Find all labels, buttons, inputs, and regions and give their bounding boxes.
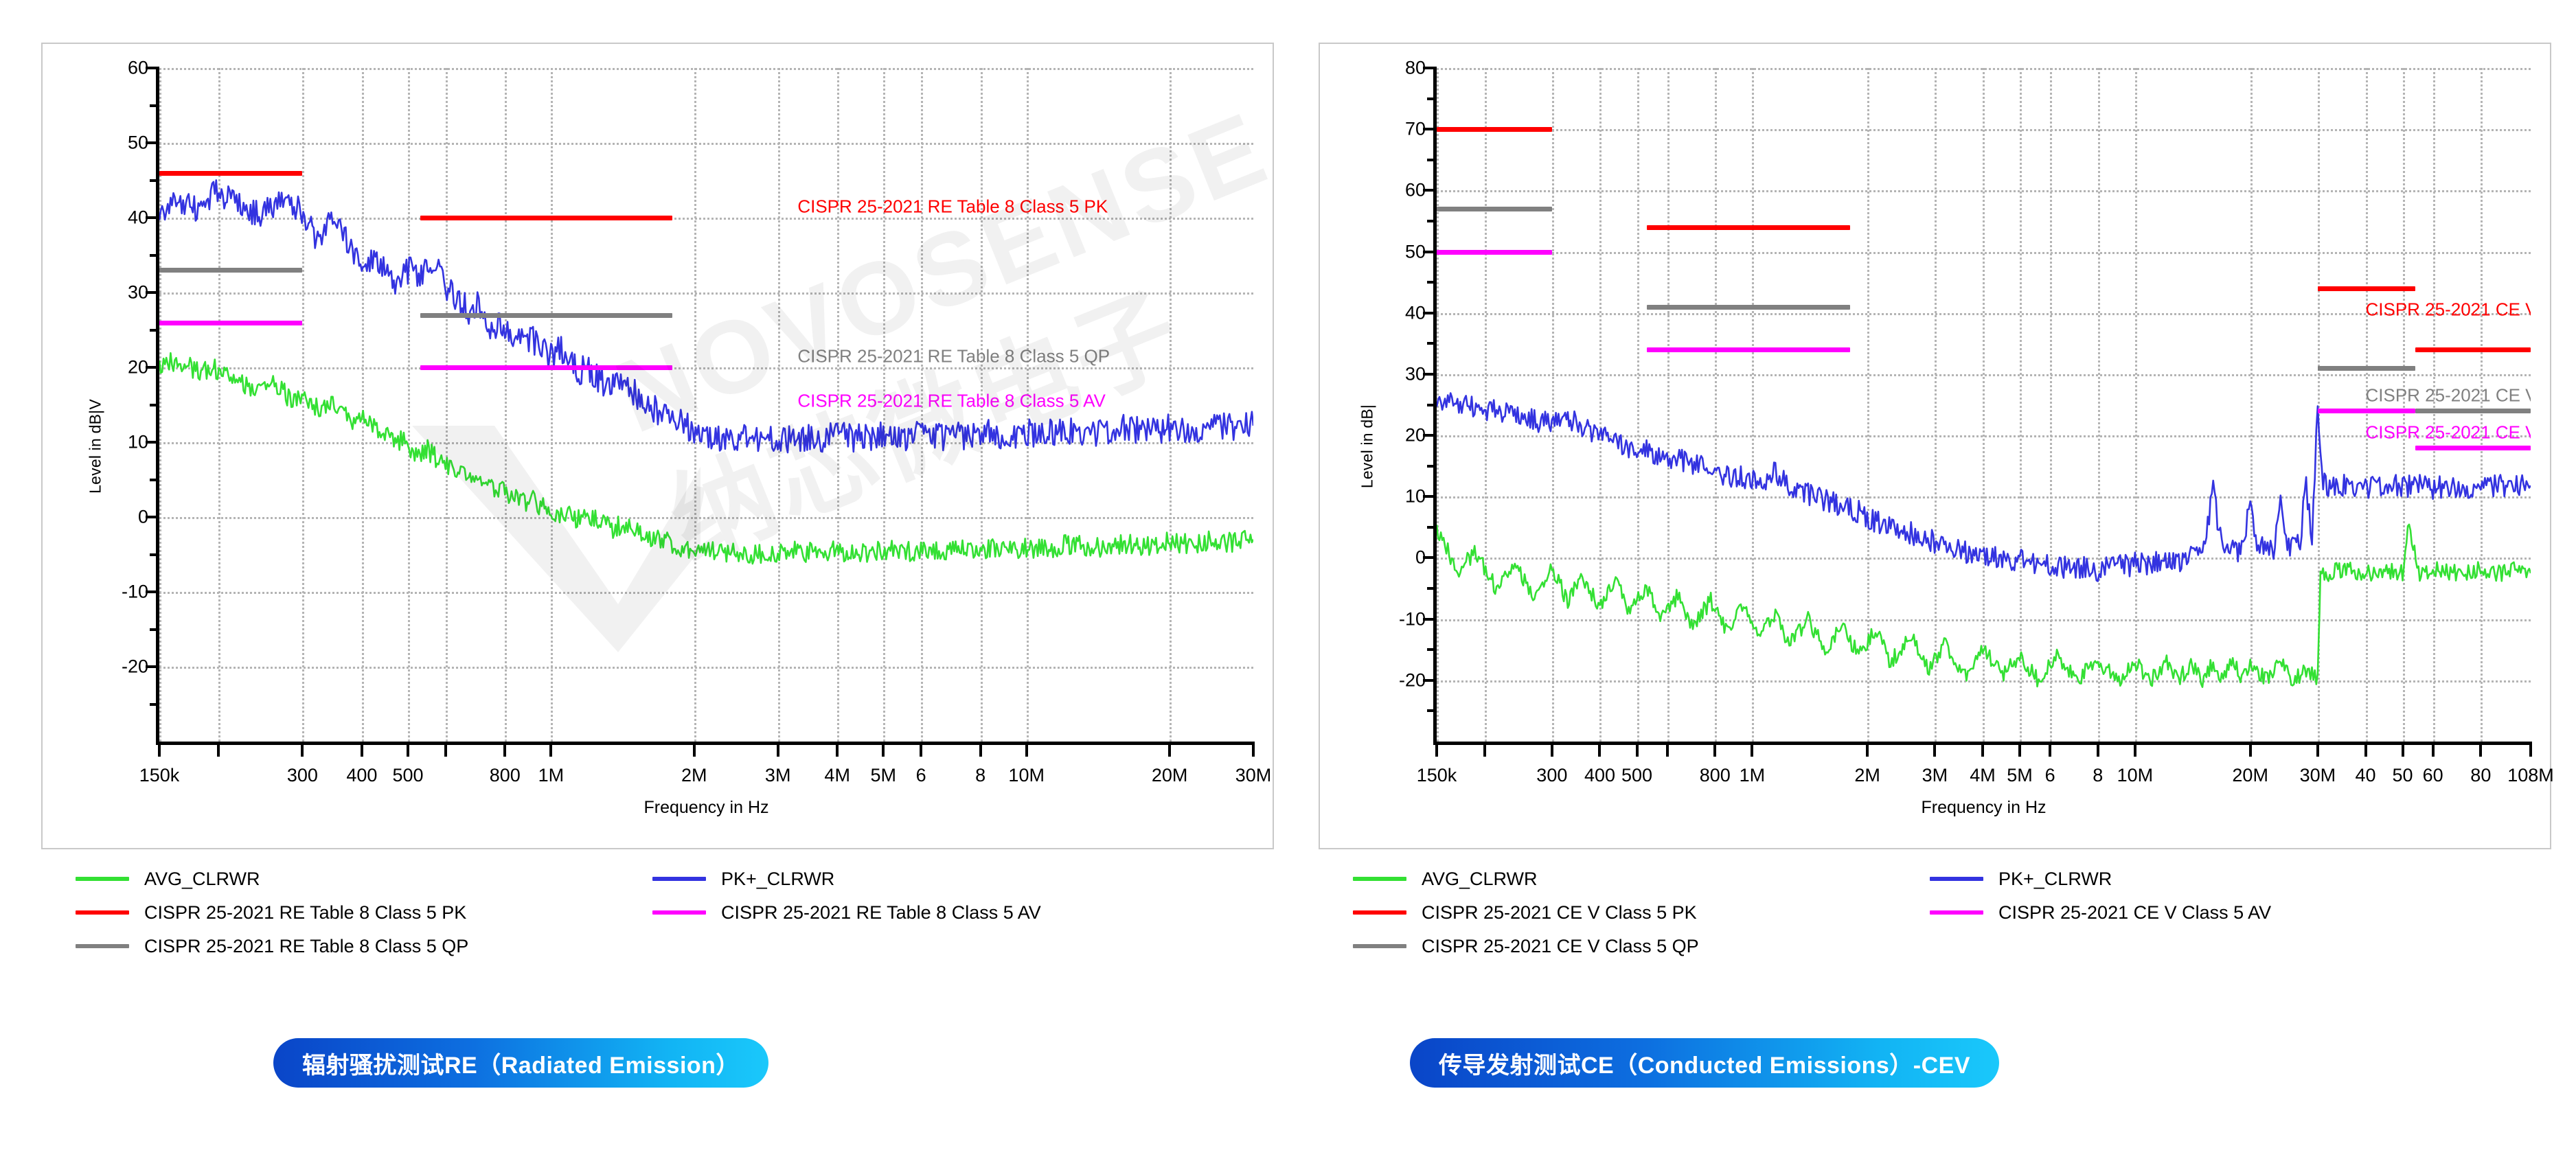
re-x-tick-label: 30M [1235,742,1272,786]
re-x-tick-label: 800 [490,742,521,786]
ce-x-tick-label: 3M [1922,742,1948,786]
re-y-tick-mark [146,441,159,444]
ce-limit-line [1437,127,1552,132]
ce-y-tick-mark [1423,312,1437,314]
re-legend-column-1: AVG_CLRWRCISPR 25-2021 RE Table 8 Class … [76,864,468,965]
ce-legend-label: CISPR 25-2021 CE V Class 5 PK [1422,902,1697,923]
re-y-tick-minor-mark [150,179,159,182]
ce-plot-inner: CISPR 25-2021 CE V Class 5 PKCISPR 25-20… [1437,68,2531,742]
ce-legend-swatch [1930,877,1983,881]
ce-limit-line [1437,250,1552,255]
ce-panel: Level in dB| CISPR 25-2021 CE V Class 5 … [1319,43,2551,1021]
re-y-tick-minor-mark [150,404,159,406]
ce-x-tick-mark [1666,742,1669,757]
ce-y-tick-mark [1423,128,1437,130]
ce-y-tick-minor-mark [1427,342,1437,345]
re-y-tick-minor-mark [150,254,159,257]
re-x-tick-label: 4M [824,742,850,786]
ce-y-tick-mark [1423,556,1437,559]
re-legend-swatch [76,944,129,948]
ce-legend-item[interactable]: AVG_CLRWR [1353,864,1699,894]
ce-legend-item[interactable]: CISPR 25-2021 CE V Class 5 PK [1353,897,1699,928]
ce-y-tick-mark [1423,495,1437,498]
re-annotation-label: CISPR 25-2021 RE Table 8 Class 5 QP [797,345,1110,367]
re-x-tick-label: 10M [1008,742,1045,786]
ce-y-axis-label: Level in dB| [1358,404,1377,487]
re-y-tick-mark [146,590,159,593]
re-x-tick-label: 6 [916,742,926,786]
ce-annotation-label: CISPR 25-2021 CE V Class 5 QP [2366,385,2531,406]
ce-x-tick-label: 60 [2423,742,2443,786]
re-y-tick-minor-mark [150,628,159,631]
re-annotation-label: CISPR 25-2021 RE Table 8 Class 5 AV [797,391,1106,412]
ce-limit-line [1647,305,1850,310]
ce-legend-swatch [1353,877,1406,881]
ce-legend-swatch [1930,910,1983,915]
ce-y-tick-mark [1423,189,1437,192]
re-legend-label: CISPR 25-2021 RE Table 8 Class 5 PK [144,902,466,923]
re-x-tick-label: 2M [681,742,707,786]
ce-y-tick-minor-mark [1427,709,1437,712]
re-y-tick-minor-mark [150,479,159,481]
re-y-tick-mark [146,141,159,144]
re-x-tick-mark [444,742,447,757]
ce-y-tick-mark [1423,679,1437,682]
re-y-tick-minor-mark [150,104,159,107]
re-legend-item[interactable]: CISPR 25-2021 RE Table 8 Class 5 PK [76,897,468,928]
ce-annotation-label: CISPR 25-2021 CE V Class 5 PK [2366,299,2531,321]
ce-y-tick-minor-mark [1427,526,1437,529]
ce-x-tick-label: 1M [1740,742,1766,786]
re-limit-line [420,216,673,220]
re-limit-line [420,313,673,318]
ce-y-tick-mark [1423,67,1437,69]
re-legend-item[interactable]: CISPR 25-2021 RE Table 8 Class 5 AV [652,897,1041,928]
ce-legend-item[interactable]: CISPR 25-2021 CE V Class 5 QP [1353,931,1699,961]
ce-x-tick-label: 20M [2232,742,2268,786]
ce-y-tick-mark [1423,373,1437,376]
ce-legend-swatch [1353,910,1406,915]
re-legend: AVG_CLRWRCISPR 25-2021 RE Table 8 Class … [55,864,1264,974]
ce-limit-line [1647,347,1850,352]
re-chart-frame: Level in dB|V CISPR 25-2021 RE Table 8 C… [41,43,1274,849]
re-trace-pk-clrwr [159,180,1253,452]
ce-x-tick-label: 800 [1700,742,1731,786]
re-legend-column-2: PK+_CLRWRCISPR 25-2021 RE Table 8 Class … [652,864,1041,931]
ce-legend-label: CISPR 25-2021 CE V Class 5 QP [1422,936,1699,957]
re-y-tick-mark [146,665,159,668]
re-y-tick-minor-mark [150,703,159,706]
ce-x-tick-label: 300 [1536,742,1567,786]
ce-y-tick-minor-mark [1427,159,1437,161]
re-legend-label: PK+_CLRWR [721,869,834,890]
ce-legend-label: PK+_CLRWR [1998,869,2112,890]
ce-y-tick-mark [1423,618,1437,621]
ce-x-tick-label: 4M [1970,742,1996,786]
ce-limit-line [2318,409,2415,413]
re-legend-label: CISPR 25-2021 RE Table 8 Class 5 QP [144,936,468,957]
ce-y-tick-minor-mark [1427,404,1437,406]
re-y-axis-label: Level in dB|V [86,399,104,494]
re-y-tick-mark [146,366,159,369]
re-limit-line [159,268,302,273]
re-plot-inner: CISPR 25-2021 RE Table 8 Class 5 PKCISPR… [159,68,1253,742]
re-annotation-label: CISPR 25-2021 RE Table 8 Class 5 PK [797,196,1108,217]
ce-chart-frame: Level in dB| CISPR 25-2021 CE V Class 5 … [1319,43,2551,849]
ce-limit-line [2415,446,2531,450]
ce-legend-swatch [1353,944,1406,948]
re-x-tick-label: 300 [287,742,318,786]
ce-y-tick-minor-mark [1427,465,1437,468]
ce-x-tick-label: 80 [2470,742,2491,786]
re-x-tick-mark [217,742,220,757]
ce-x-tick-label: 10M [2117,742,2154,786]
re-y-tick-mark [146,291,159,294]
ce-legend-column-1: AVG_CLRWRCISPR 25-2021 CE V Class 5 PKCI… [1353,864,1699,965]
re-x-axis-label: Frequency in Hz [643,798,768,818]
re-limit-line [420,365,673,370]
ce-x-tick-label: 108M [2507,742,2554,786]
re-legend-label: CISPR 25-2021 RE Table 8 Class 5 AV [721,902,1041,923]
re-plot-area: CISPR 25-2021 RE Table 8 Class 5 PKCISPR… [156,68,1253,745]
page-root: NOVOSENSE 纳芯微电子 Level in dB|V CISPR 25-2… [0,0,2576,1159]
ce-y-tick-minor-mark [1427,281,1437,284]
re-x-tick-label: 20M [1152,742,1188,786]
re-y-tick-minor-mark [150,329,159,332]
re-x-tick-label: 3M [765,742,791,786]
ce-legend-item[interactable]: CISPR 25-2021 CE V Class 5 AV [1930,897,2271,928]
ce-x-tick-label: 500 [1621,742,1652,786]
ce-x-axis-label: Frequency in Hz [1921,798,2046,818]
ce-x-tick-label: 8 [2093,742,2103,786]
ce-x-tick-label: 400 [1584,742,1615,786]
ce-y-tick-minor-mark [1427,97,1437,100]
ce-x-tick-label: 6 [2045,742,2055,786]
re-y-tick-mark [146,516,159,518]
ce-banner[interactable]: 传导发射测试CE（Conducted Emissions）-CEV [1410,1038,1999,1088]
ce-limit-line [1437,207,1552,211]
ce-legend-item[interactable]: PK+_CLRWR [1930,864,2271,894]
re-x-tick-label: 500 [392,742,423,786]
re-legend-swatch [652,877,706,881]
ce-y-tick-mark [1423,251,1437,253]
re-x-tick-label: 400 [346,742,377,786]
ce-x-tick-label: 30M [2300,742,2336,786]
ce-legend-column-2: PK+_CLRWRCISPR 25-2021 CE V Class 5 AV [1930,864,2271,931]
ce-y-tick-mark [1423,434,1437,437]
re-legend-swatch [76,910,129,915]
re-legend-item[interactable]: AVG_CLRWR [76,864,468,894]
re-trace-avg-clrwr [159,353,1253,564]
ce-x-tick-label: 50 [2393,742,2413,786]
re-x-tick-label: 8 [975,742,985,786]
re-limit-line [159,321,302,325]
ce-limit-line [2415,347,2531,352]
re-legend-swatch [76,877,129,881]
re-legend-item[interactable]: PK+_CLRWR [652,864,1041,894]
re-legend-swatch [652,910,706,915]
re-legend-item[interactable]: CISPR 25-2021 RE Table 8 Class 5 QP [76,931,468,961]
ce-limit-line [2415,409,2531,413]
ce-x-tick-mark [1483,742,1486,757]
re-x-tick-label: 150k [139,742,180,786]
ce-legend: AVG_CLRWRCISPR 25-2021 CE V Class 5 PKCI… [1332,864,2541,974]
ce-y-tick-minor-mark [1427,220,1437,222]
ce-x-tick-label: 40 [2355,742,2375,786]
re-limit-line [159,171,302,176]
ce-annotation-label: CISPR 25-2021 CE V Class 5 AV [2366,422,2531,443]
ce-plot-area: CISPR 25-2021 CE V Class 5 PKCISPR 25-20… [1433,68,2531,745]
ce-y-tick-minor-mark [1427,587,1437,590]
ce-limit-line [2318,366,2415,371]
re-y-tick-mark [146,67,159,69]
ce-y-tick-minor-mark [1427,648,1437,651]
ce-x-tick-label: 5M [2007,742,2033,786]
ce-limit-line [1647,225,1850,230]
re-x-tick-label: 1M [538,742,565,786]
ce-legend-label: AVG_CLRWR [1422,869,1538,890]
re-x-tick-label: 5M [871,742,897,786]
ce-x-tick-label: 2M [1854,742,1880,786]
ce-legend-label: CISPR 25-2021 CE V Class 5 AV [1998,902,2271,923]
ce-x-tick-label: 150k [1417,742,1457,786]
re-y-tick-minor-mark [150,553,159,556]
re-legend-label: AVG_CLRWR [144,869,260,890]
re-y-tick-mark [146,216,159,219]
ce-limit-line [2318,286,2415,291]
re-panel: Level in dB|V CISPR 25-2021 RE Table 8 C… [41,43,1274,1021]
re-banner[interactable]: 辐射骚扰测试RE（Radiated Emission） [273,1038,768,1088]
